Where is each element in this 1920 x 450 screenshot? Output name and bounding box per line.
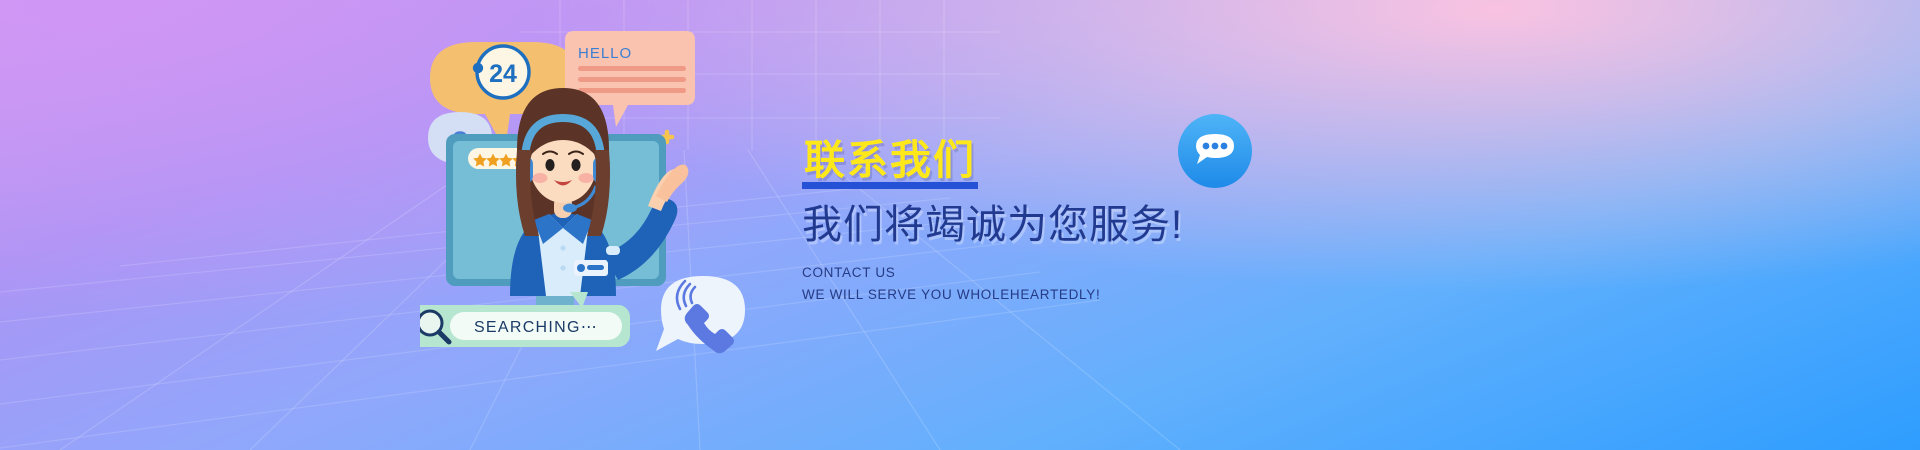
banner-copy: 联系我们 我们将竭诚为您服务! CONTACT US WE WILL SERVE…: [802, 140, 1322, 304]
caption-serve-you: WE WILL SERVE YOU WHOLEHEARTEDLY!: [802, 286, 1322, 304]
phone-bubble: [656, 276, 745, 353]
twenty-four-label: 24: [489, 60, 517, 88]
headline-underline: [802, 182, 978, 189]
caption-contact-us: CONTACT US: [802, 264, 1322, 282]
contact-us-banner: 24 HELLO ?: [0, 0, 1920, 450]
headline-text: 联系我们: [804, 137, 976, 183]
search-bar-label: SEARCHING⋯: [474, 319, 598, 336]
page-title: 联系我们: [802, 140, 978, 189]
search-bar: SEARCHING⋯: [420, 292, 630, 347]
subheadline: 我们将竭诚为您服务!: [802, 203, 1322, 247]
hello-label: HELLO: [578, 45, 632, 62]
english-captions: CONTACT US WE WILL SERVE YOU WHOLEHEARTE…: [802, 264, 1322, 304]
